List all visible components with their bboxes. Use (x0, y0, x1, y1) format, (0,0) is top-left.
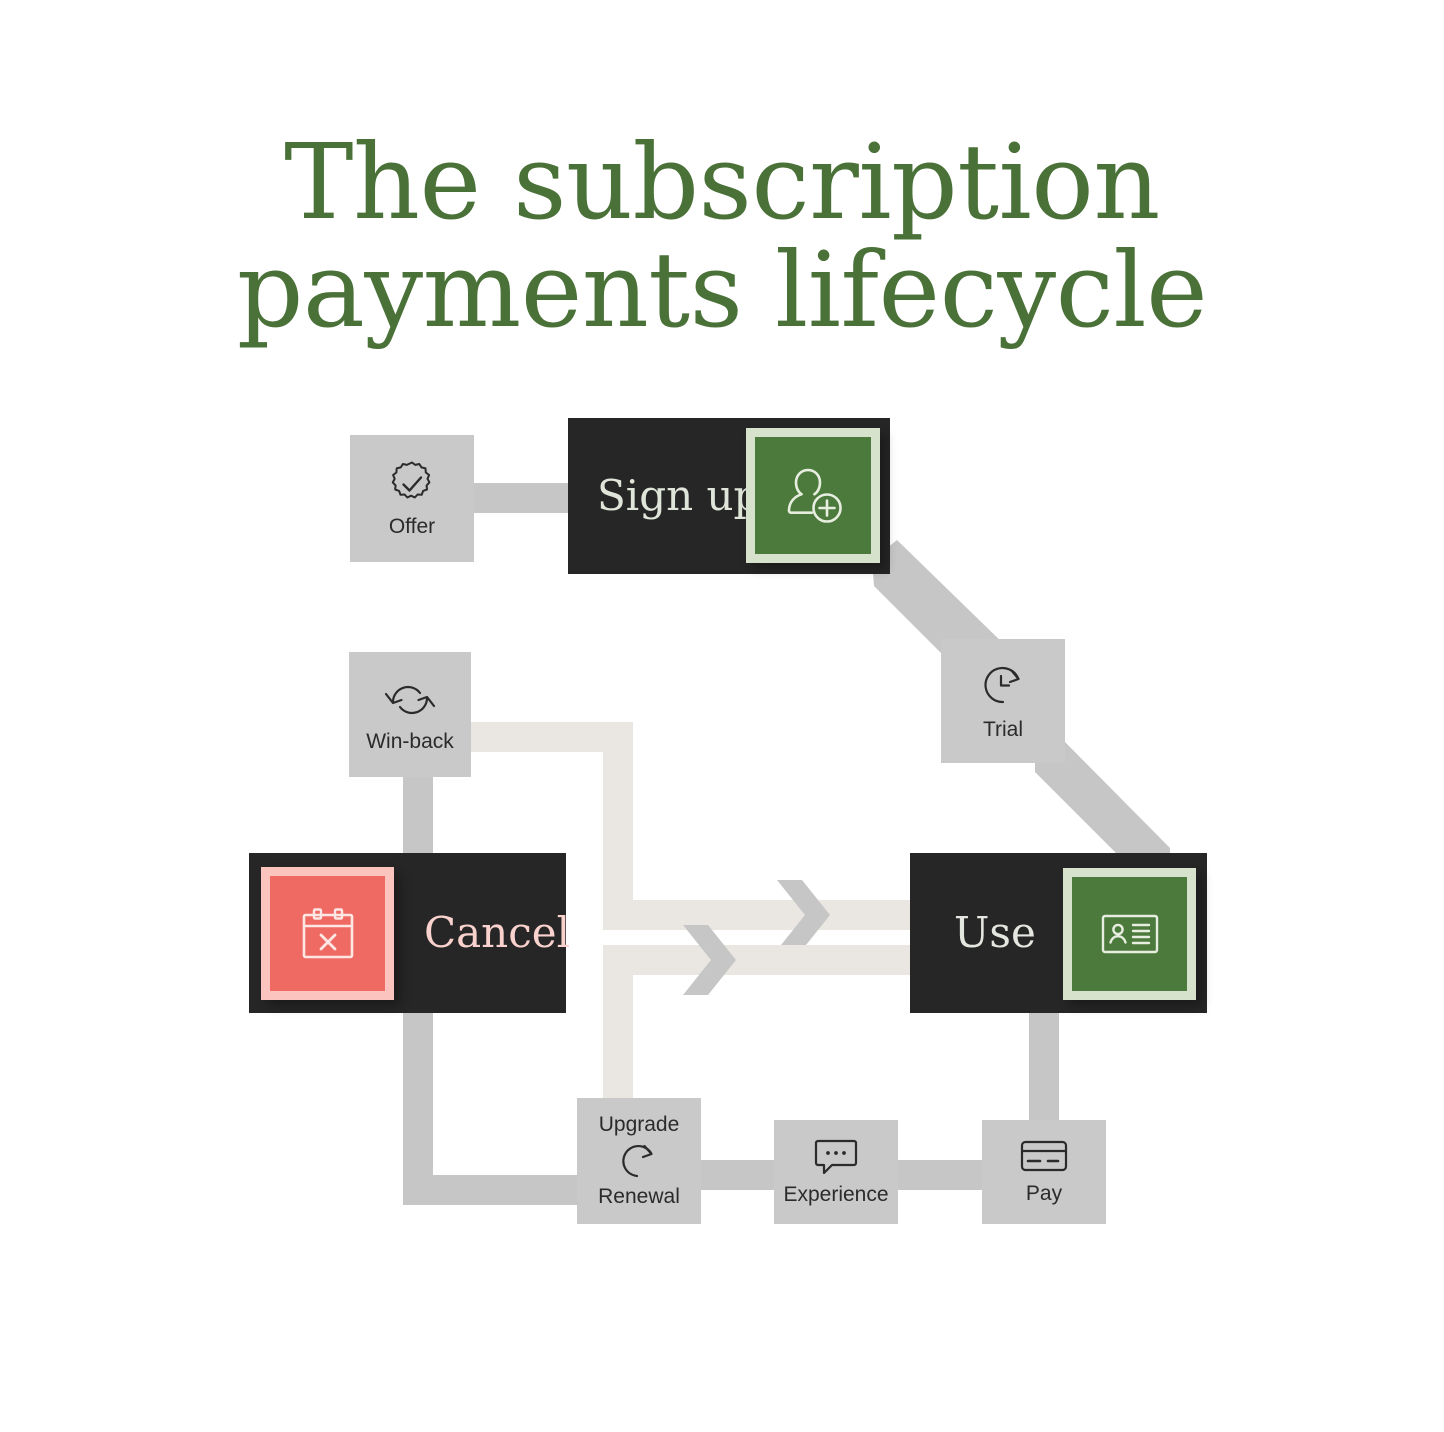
chat-bubble-icon (812, 1137, 860, 1177)
diagram-canvas: The subscription payments lifecycle (0, 0, 1444, 1432)
add-user-icon (777, 460, 849, 532)
node-experience[interactable]: Experience (774, 1120, 898, 1224)
node-offer[interactable]: Offer (350, 435, 474, 562)
node-cancel[interactable]: Cancel (249, 853, 566, 1013)
node-signup[interactable]: Sign up (568, 418, 890, 574)
node-use-label: Use (954, 910, 1036, 956)
connector-pay-experience (888, 1160, 993, 1190)
node-renewal-label-top: Upgrade (599, 1113, 680, 1137)
node-winback[interactable]: Win-back (349, 652, 471, 777)
connector-renewal-cancel-leg (403, 1175, 593, 1205)
credit-card-icon (1020, 1138, 1068, 1174)
node-renewal[interactable]: Upgrade Renewal (577, 1098, 701, 1224)
node-cancel-label: Cancel (424, 910, 570, 956)
node-pay-label: Pay (1026, 1182, 1062, 1206)
id-card-icon (1100, 911, 1160, 957)
connector-use-pay (1029, 1005, 1059, 1130)
connector-cancel-winback (403, 770, 433, 865)
sync-arrows-icon (382, 676, 438, 724)
node-signup-icon-tile (746, 428, 880, 563)
clock-arrow-icon (977, 660, 1029, 710)
node-trial-label: Trial (983, 718, 1023, 742)
node-pay[interactable]: Pay (982, 1120, 1106, 1224)
circular-arrow-icon (614, 1139, 664, 1183)
node-trial[interactable]: Trial (941, 639, 1065, 763)
badge-check-icon (387, 459, 437, 509)
node-experience-label: Experience (783, 1183, 888, 1207)
node-renewal-label-bottom: Renewal (598, 1185, 680, 1209)
connector-renewal-use (603, 945, 925, 1108)
node-cancel-icon-tile (261, 867, 394, 1000)
node-offer-label: Offer (389, 515, 435, 539)
connector-layer (0, 0, 1444, 1432)
node-use[interactable]: Use (910, 853, 1207, 1013)
node-signup-label: Sign up (597, 473, 760, 519)
connector-offer-signup (465, 483, 580, 513)
node-use-icon-tile (1063, 868, 1196, 1000)
node-winback-label: Win-back (366, 730, 454, 754)
calendar-x-icon (299, 906, 357, 962)
connector-experience-renewal (690, 1160, 785, 1190)
